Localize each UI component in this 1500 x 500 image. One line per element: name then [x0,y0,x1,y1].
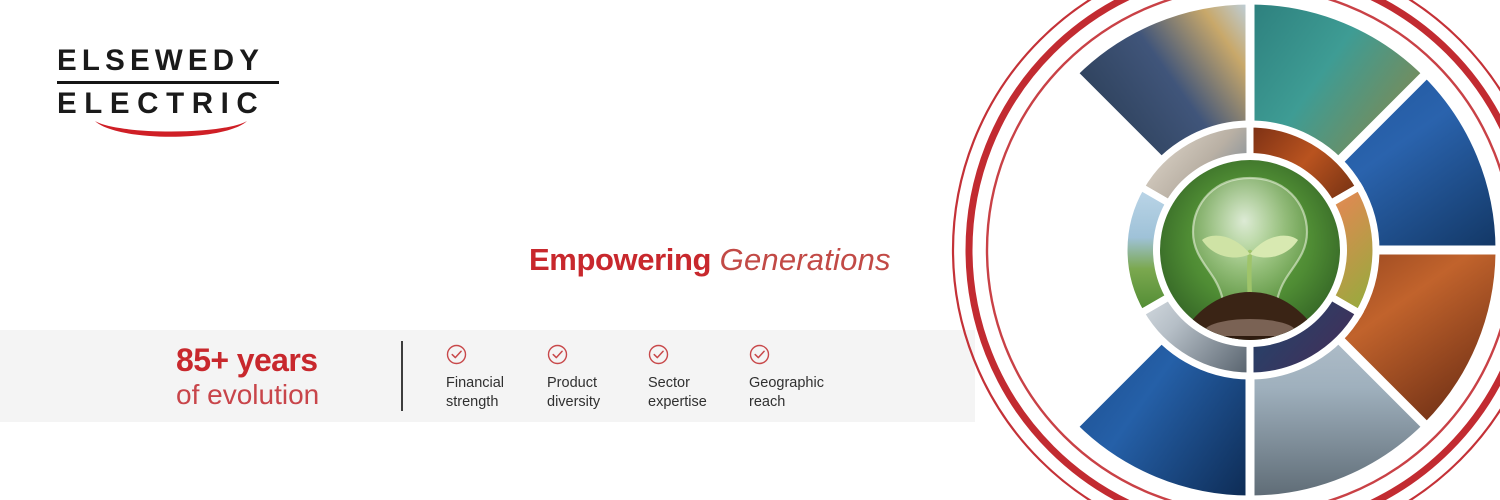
check-circle-icon [547,344,568,365]
feature-label: Product diversity [547,374,648,412]
check-circle-icon [648,344,669,365]
feature-item-geographic-reach[interactable]: Geographic reach [749,344,850,412]
elsewedy-electric-banner: ELSEWEDY ELECTRIC Empowering Generations… [0,0,1500,500]
tagline: Empowering Generations [529,240,891,280]
feature-item-sector-expertise[interactable]: Sector expertise [648,344,749,412]
feature-item-product-diversity[interactable]: Product diversity [547,344,648,412]
circular-image-collage [950,0,1500,500]
years-headline: 85+ years [176,342,319,378]
elsewedy-electric-logo[interactable]: ELSEWEDY ELECTRIC [57,45,297,145]
logo-wordmark-line1: ELSEWEDY [57,45,297,77]
check-circle-icon [446,344,467,365]
feature-list: Financial strength Product diversity Sec… [446,344,850,412]
years-subline: of evolution [176,378,319,411]
tagline-italic-word: Generations [720,242,891,277]
years-stat: 85+ years of evolution [176,342,319,411]
logo-divider-rule [57,81,279,84]
tagline-bold-word: Empowering [529,242,711,277]
feature-label: Geographic reach [749,374,850,412]
check-circle-icon [749,344,770,365]
band-vertical-divider [401,341,403,411]
logo-red-smile-arc [95,121,247,143]
feature-item-financial-strength[interactable]: Financial strength [446,344,547,412]
feature-label: Financial strength [446,374,547,412]
feature-label: Sector expertise [648,374,749,412]
logo-wordmark-line2: ELECTRIC [57,88,297,120]
